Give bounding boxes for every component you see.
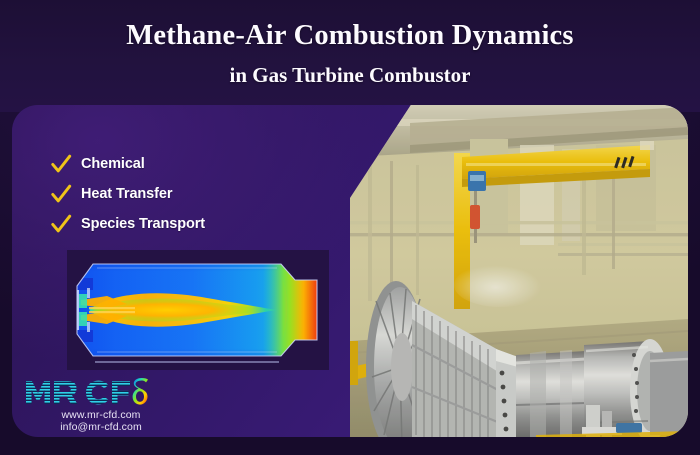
feature-checklist: Chemical Heat Transfer Species Transport — [50, 153, 205, 235]
contact-info: www.mr-cfd.com info@mr-cfd.com — [42, 409, 160, 434]
website-link[interactable]: www.mr-cfd.com — [62, 409, 141, 421]
check-icon — [50, 153, 72, 175]
header: Methane-Air Combustion Dynamics in Gas T… — [0, 0, 700, 108]
email-link[interactable]: info@mr-cfd.com — [60, 421, 142, 433]
photo-illustration — [350, 105, 688, 437]
page-title: Methane-Air Combustion Dynamics — [126, 22, 573, 51]
contour-plot — [67, 250, 329, 370]
poster-canvas: Methane-Air Combustion Dynamics in Gas T… — [0, 0, 700, 455]
brand-logo: www.mr-cfd.com info@mr-cfd.com — [24, 377, 204, 435]
gas-turbine-rotor-photo — [350, 105, 688, 437]
check-icon — [50, 213, 72, 235]
mr-cfd-logo-icon — [24, 377, 156, 407]
list-item: Chemical — [50, 153, 205, 175]
list-item-label: Heat Transfer — [81, 186, 172, 202]
content-panel: Chemical Heat Transfer Species Transport — [12, 105, 688, 437]
list-item-label: Chemical — [81, 156, 145, 172]
list-item-label: Species Transport — [81, 216, 205, 232]
list-item: Species Transport — [50, 213, 205, 235]
check-icon — [50, 183, 72, 205]
combustor-temperature-contour — [67, 250, 329, 370]
page-subtitle: in Gas Turbine Combustor — [230, 65, 471, 86]
list-item: Heat Transfer — [50, 183, 205, 205]
